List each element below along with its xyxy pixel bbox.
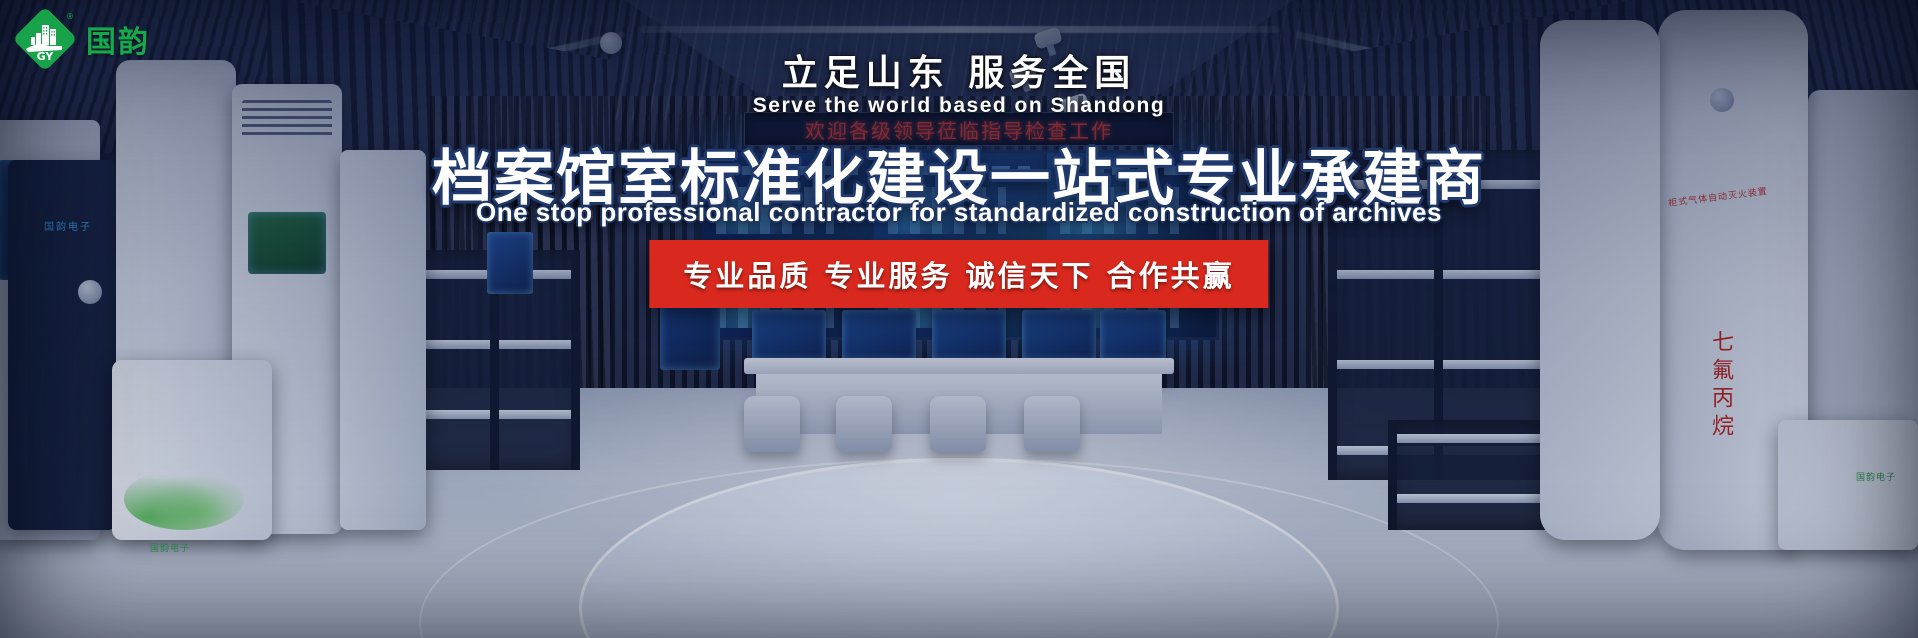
hero-banner: 欢迎各级领导莅临指导检查工作 bbox=[0, 0, 1918, 638]
brand-logo[interactable]: GY ® 国韵 bbox=[14, 8, 150, 70]
svg-text:GY: GY bbox=[37, 50, 55, 62]
building-diamond-logo-icon: GY ® bbox=[14, 8, 76, 70]
registered-mark: ® bbox=[66, 12, 74, 21]
tagline-chinese: 立足山东 服务全国 bbox=[0, 44, 1918, 96]
logo-buildings-icon: GY bbox=[22, 16, 68, 62]
hero-copy: 立足山东 服务全国 Serve the world based on Shand… bbox=[0, 0, 1918, 638]
slogan-text: 专业品质 专业服务 诚信天下 合作共赢 bbox=[683, 253, 1234, 295]
brand-name: 国韵 bbox=[86, 17, 150, 61]
slogan-red-bar: 专业品质 专业服务 诚信天下 合作共赢 bbox=[649, 240, 1268, 308]
tagline-english: Serve the world based on Shandong bbox=[0, 94, 1918, 118]
headline-english: One stop professional contractor for sta… bbox=[0, 197, 1918, 228]
